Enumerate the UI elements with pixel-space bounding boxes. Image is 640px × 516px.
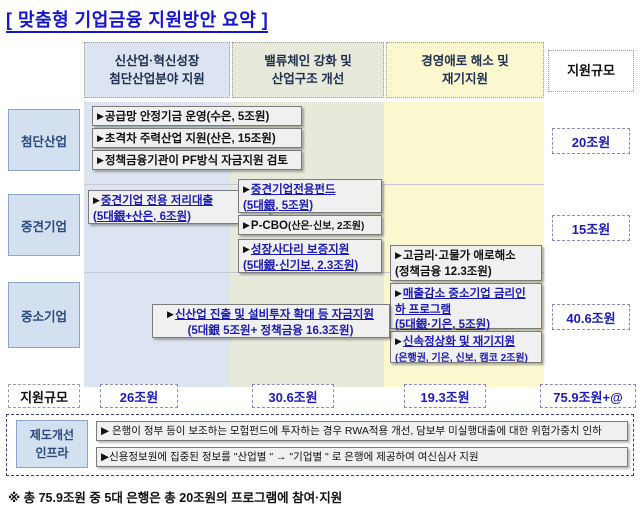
measure-box: ▶P-CBO(산은·신보, 2조원): [238, 215, 382, 235]
measure-subtext: (5대銀·신기보, 2.3조원): [243, 260, 358, 272]
measure-text: 매출감소 중소기업 금리인하 프로그램: [395, 288, 526, 316]
infra-label-line2: 인프라: [35, 444, 68, 462]
row-amount-sme: 40.6조원: [552, 304, 630, 330]
measure-text: 정책금융기관이 PF방식 자금지원 검토: [105, 155, 288, 167]
measure-text: P-CBO: [251, 220, 288, 232]
measure-text: 고금리·고물가 애로해소: [403, 250, 516, 262]
total-grand: 75.9조원+@: [540, 384, 636, 408]
bullet-triangle-icon: ▶: [97, 133, 104, 143]
column-header-line1: 경영애로 해소 및: [421, 52, 508, 70]
bullet-triangle-icon: ▶: [395, 250, 402, 260]
row-label-advanced-industry: 첨단산업: [8, 109, 80, 171]
measure-box: ▶신속정상화 및 재기지원 (은행권, 기은, 신보, 캠코 2조원): [390, 331, 542, 363]
measure-subtext: (5대銀·기은, 5조원): [395, 319, 490, 331]
infra-item: ▶신용정보원에 집중된 정보를 "산업별 " → "기업별 " 로 은행에 제공…: [96, 447, 628, 467]
measure-box: ▶중견기업전용펀드 (5대銀, 5조원): [238, 179, 382, 213]
bullet-triangle-icon: ▶: [395, 336, 402, 346]
footnote: ※ 총 75.9조원 중 5대 은행은 총 20조원의 프로그램에 참여·지원: [8, 487, 608, 506]
total-management-relief: 19.3조원: [404, 384, 486, 408]
measure-text: 공급망 안정기금 운영(수은, 5조원): [105, 111, 269, 123]
infra-item: ▶ 은행이 정부 등이 보조하는 모험펀드에 투자하는 경우 RWA적용 개선,…: [96, 421, 628, 441]
column-header-support-scale: 지원규모: [548, 50, 634, 92]
measure-box: ▶매출감소 중소기업 금리인하 프로그램 (5대銀·기은, 5조원): [390, 283, 542, 329]
measure-box: ▶고금리·고물가 애로해소 (정책금융 12.3조원): [390, 245, 542, 281]
measure-subtext: (5대銀+산은, 6조원): [93, 211, 191, 223]
measure-subtext: (5대銀 5조원+ 정책금융 16.3조원): [188, 325, 354, 337]
institutional-improvement-label: 제도개선 인프라: [16, 420, 88, 468]
bullet-triangle-icon: ▶: [243, 244, 250, 254]
bullet-triangle-icon: ▶: [167, 309, 174, 319]
column-header-new-industry: 신산업·혁신성장 첨단산업분야 지원: [84, 42, 230, 98]
row-label-sme: 중소기업: [8, 282, 80, 348]
bullet-triangle-icon: ▶: [243, 184, 250, 194]
measure-box: ▶정책금융기관이 PF방식 자금지원 검토: [92, 150, 302, 170]
row-amount-mid-size-enterprise: 15조원: [552, 215, 630, 241]
measure-text: 신속정상화 및 재기지원: [403, 336, 515, 348]
column-header-line2: 첨단산업분야 지원: [109, 70, 204, 88]
measure-text: 초격차 주력산업 지원(산은, 15조원): [105, 133, 276, 145]
column-header-line2: 재기지원: [442, 70, 488, 88]
bullet-triangle-icon: ▶: [97, 155, 104, 165]
infra-label-line1: 제도개선: [30, 426, 74, 444]
measure-box: ▶공급망 안정기금 운영(수은, 5조원): [92, 106, 302, 126]
bullet-triangle-icon: ▶: [93, 195, 100, 205]
row-amount-advanced-industry: 20조원: [552, 128, 630, 154]
measure-text: 성장사다리 보증지원: [251, 244, 349, 256]
column-header-value-chain: 밸류체인 강화 및 산업구조 개선: [232, 42, 384, 98]
bullet-triangle-icon: ▶: [243, 220, 250, 230]
measure-subtext: (산은·신보, 2조원): [288, 221, 364, 232]
measure-text: 중견기업전용펀드: [251, 184, 336, 196]
measure-box: ▶초격차 주력산업 지원(산은, 15조원): [92, 128, 302, 148]
total-value-chain: 30.6조원: [252, 384, 334, 408]
page-title-text: [ 맞춤형 기업금융 지원방안 요약 ]: [6, 10, 268, 33]
measure-box: ▶성장사다리 보증지원 (5대銀·신기보, 2.3조원): [238, 239, 382, 273]
measure-subtext: (은행권, 기은, 신보, 캠코 2조원): [395, 353, 528, 364]
total-new-industry: 26조원: [100, 384, 178, 408]
page-title: [ 맞춤형 기업금융 지원방안 요약 ]: [6, 6, 436, 32]
measure-subtext: (5대銀, 5조원): [243, 200, 313, 212]
bullet-triangle-icon: ▶: [97, 111, 104, 121]
totals-label: 지원규모: [8, 384, 80, 408]
measure-subtext: (정책금융 12.3조원): [395, 266, 492, 278]
totals-row: 지원규모 26조원 30.6조원 19.3조원 75.9조원+@: [0, 384, 640, 414]
row-label-mid-size-enterprise: 중견기업: [8, 194, 80, 256]
column-header-line1: 밸류체인 강화 및: [264, 52, 351, 70]
measure-box: ▶신산업 진출 및 설비투자 확대 등 자금지원 (5대銀 5조원+ 정책금융 …: [152, 304, 390, 338]
column-header-line2: 산업구조 개선: [272, 70, 344, 88]
support-matrix: 신산업·혁신성장 첨단산업분야 지원 밸류체인 강화 및 산업구조 개선 경영애…: [0, 42, 640, 400]
measure-text: 중견기업 전용 저리대출: [101, 195, 213, 207]
column-header-line1: 신산업·혁신성장: [115, 52, 200, 70]
column-header-management-relief: 경영애로 해소 및 재기지원: [386, 42, 544, 98]
measure-text: 신산업 진출 및 설비투자 확대 등 자금지원: [175, 309, 374, 321]
bullet-triangle-icon: ▶: [395, 288, 402, 298]
